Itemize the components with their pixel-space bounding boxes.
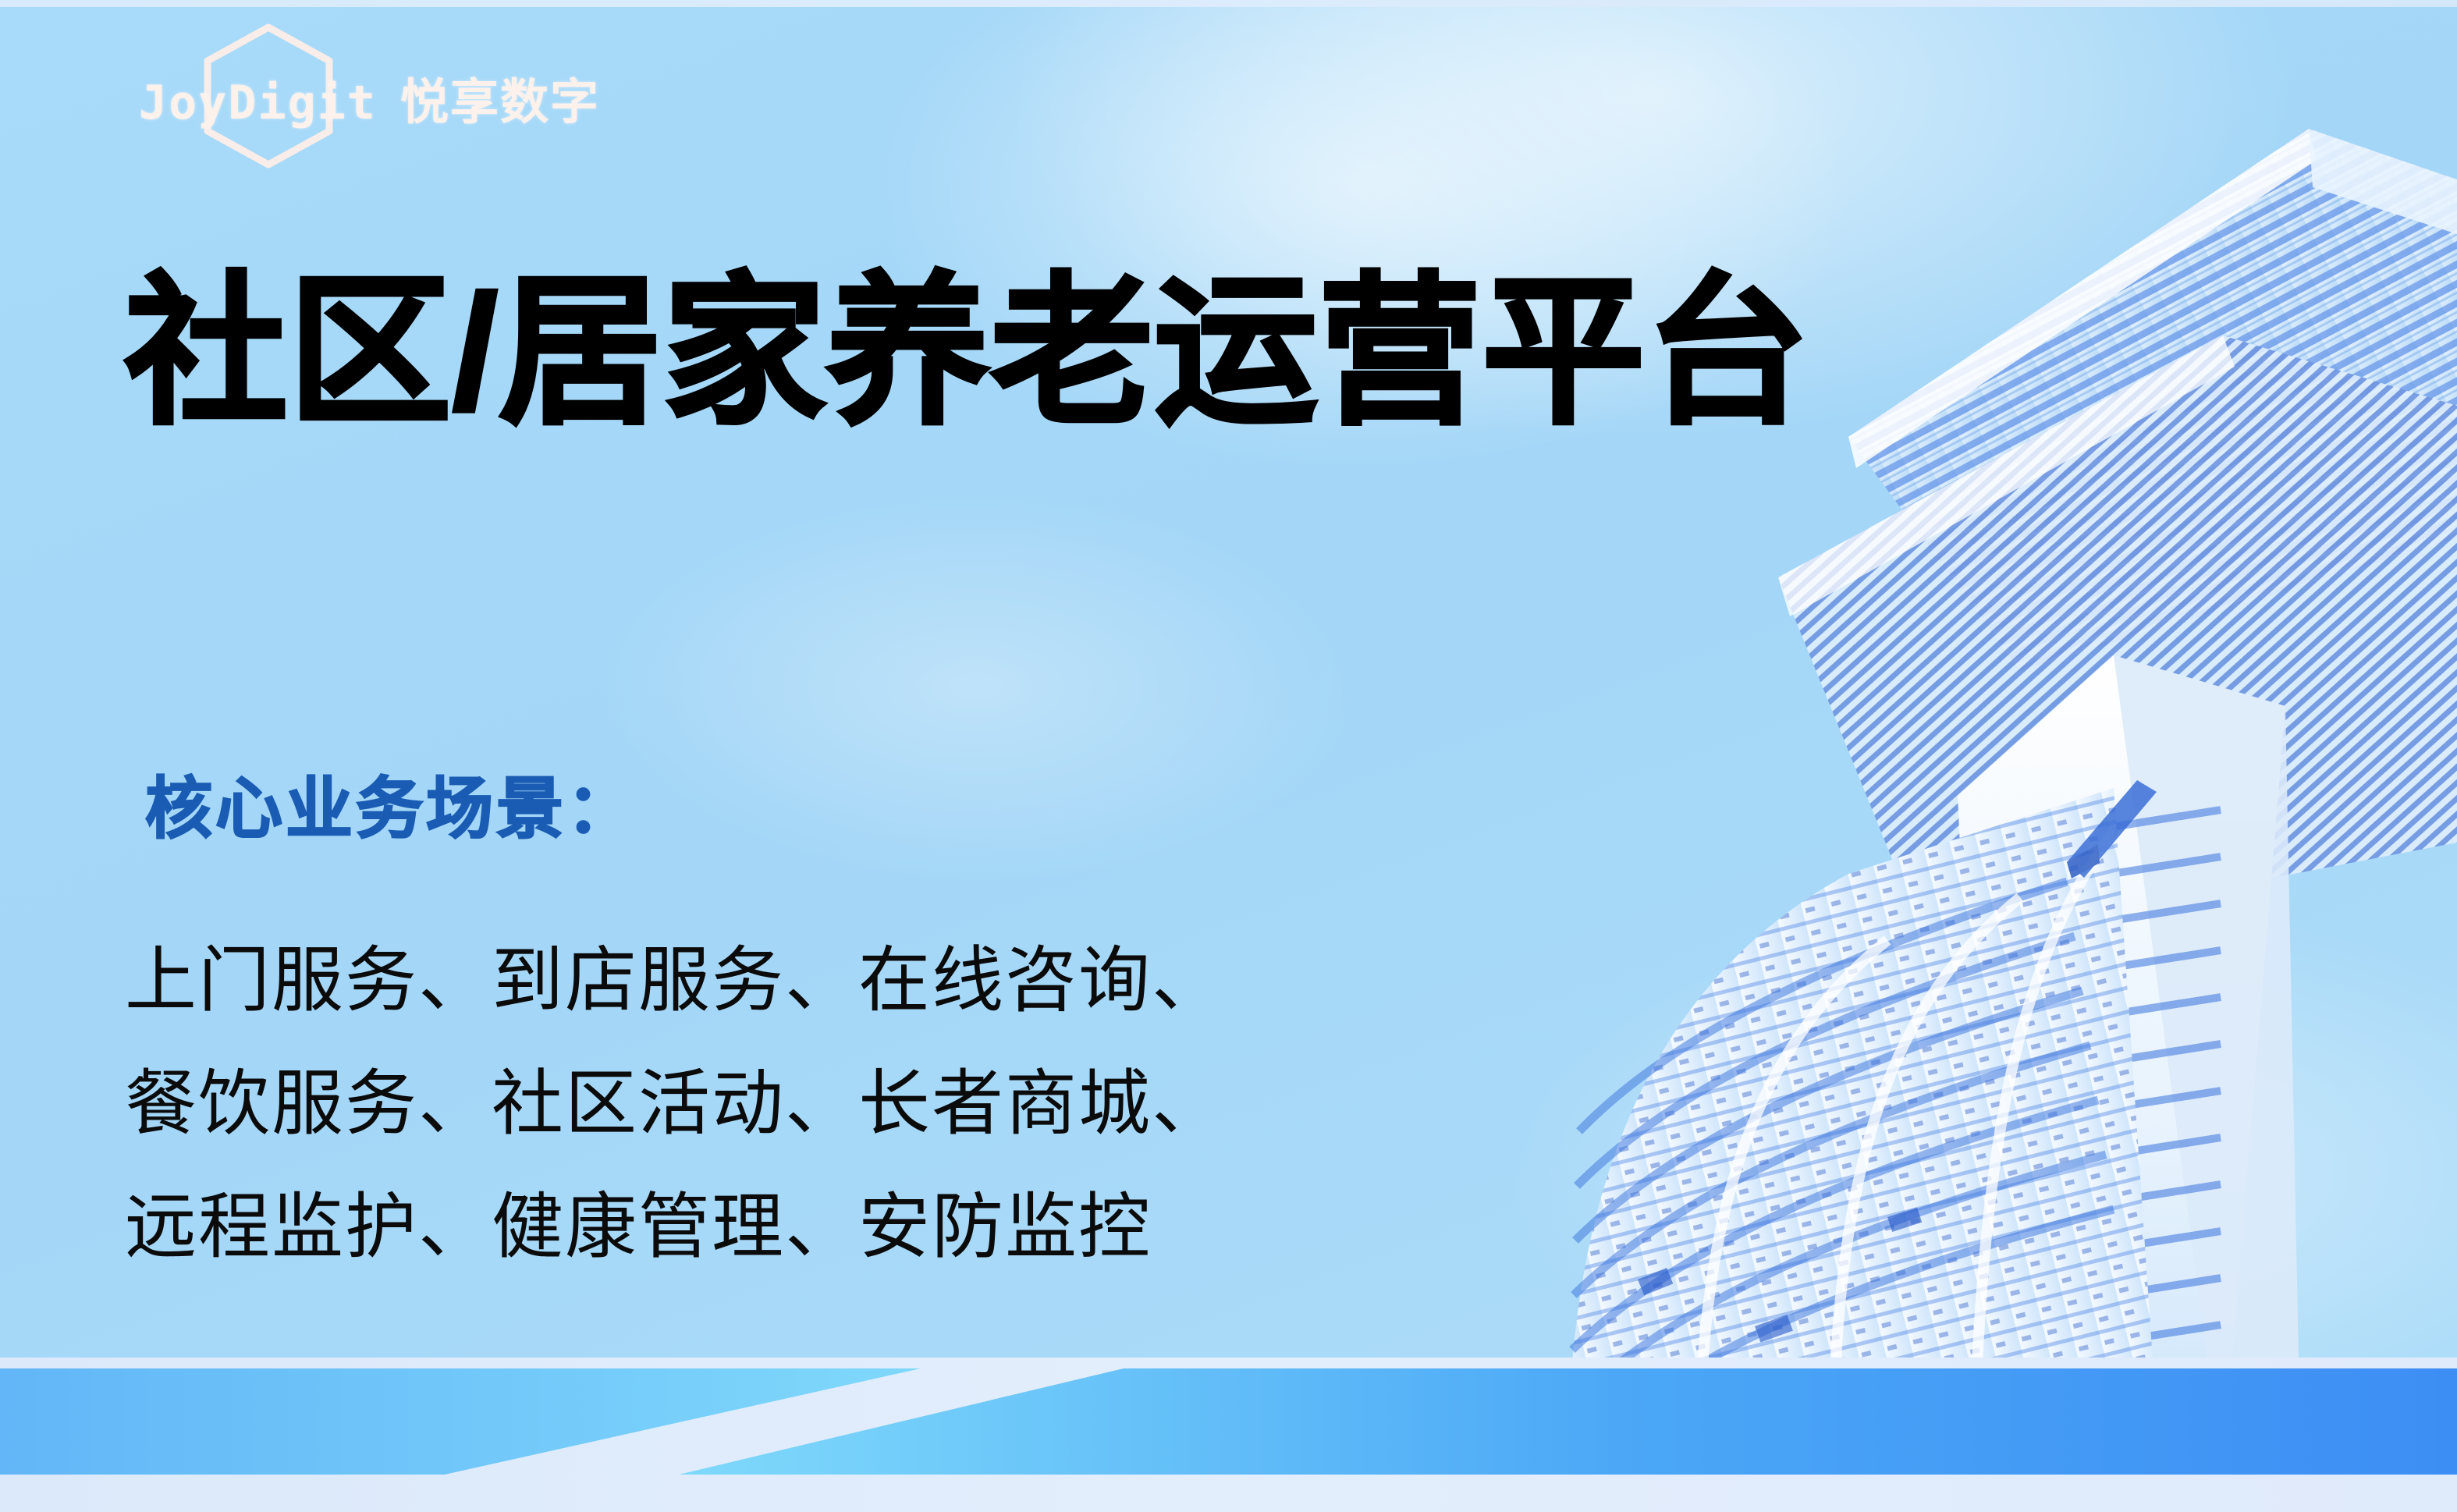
- top-edge-strip: [0, 0, 2457, 7]
- slide-root: JoyDigit 悦享数字 社区/居家养老运营平台 核心业务场景： 上门服务、到…: [0, 0, 2457, 1512]
- page-title: 社区/居家养老运营平台: [125, 261, 1810, 445]
- scenario-list: 上门服务、到店服务、在线咨询、 餐饮服务、社区活动、长者商城、 远程监护、健康管…: [125, 919, 1225, 1290]
- logo-wordmark: JoyDigit: [139, 80, 377, 126]
- scenario-line-1: 上门服务、到店服务、在线咨询、: [125, 919, 1225, 1042]
- scenario-line-3: 远程监护、健康管理、安防监控: [125, 1166, 1225, 1289]
- logo-chinese-name: 悦享数字: [400, 79, 600, 127]
- brand-logo: JoyDigit 悦享数字: [139, 74, 600, 132]
- scenario-line-2: 餐饮服务、社区活动、长者商城、: [125, 1042, 1225, 1166]
- bottom-decorative-band: [0, 1358, 2457, 1512]
- section-heading: 核心业务场景：: [145, 769, 637, 850]
